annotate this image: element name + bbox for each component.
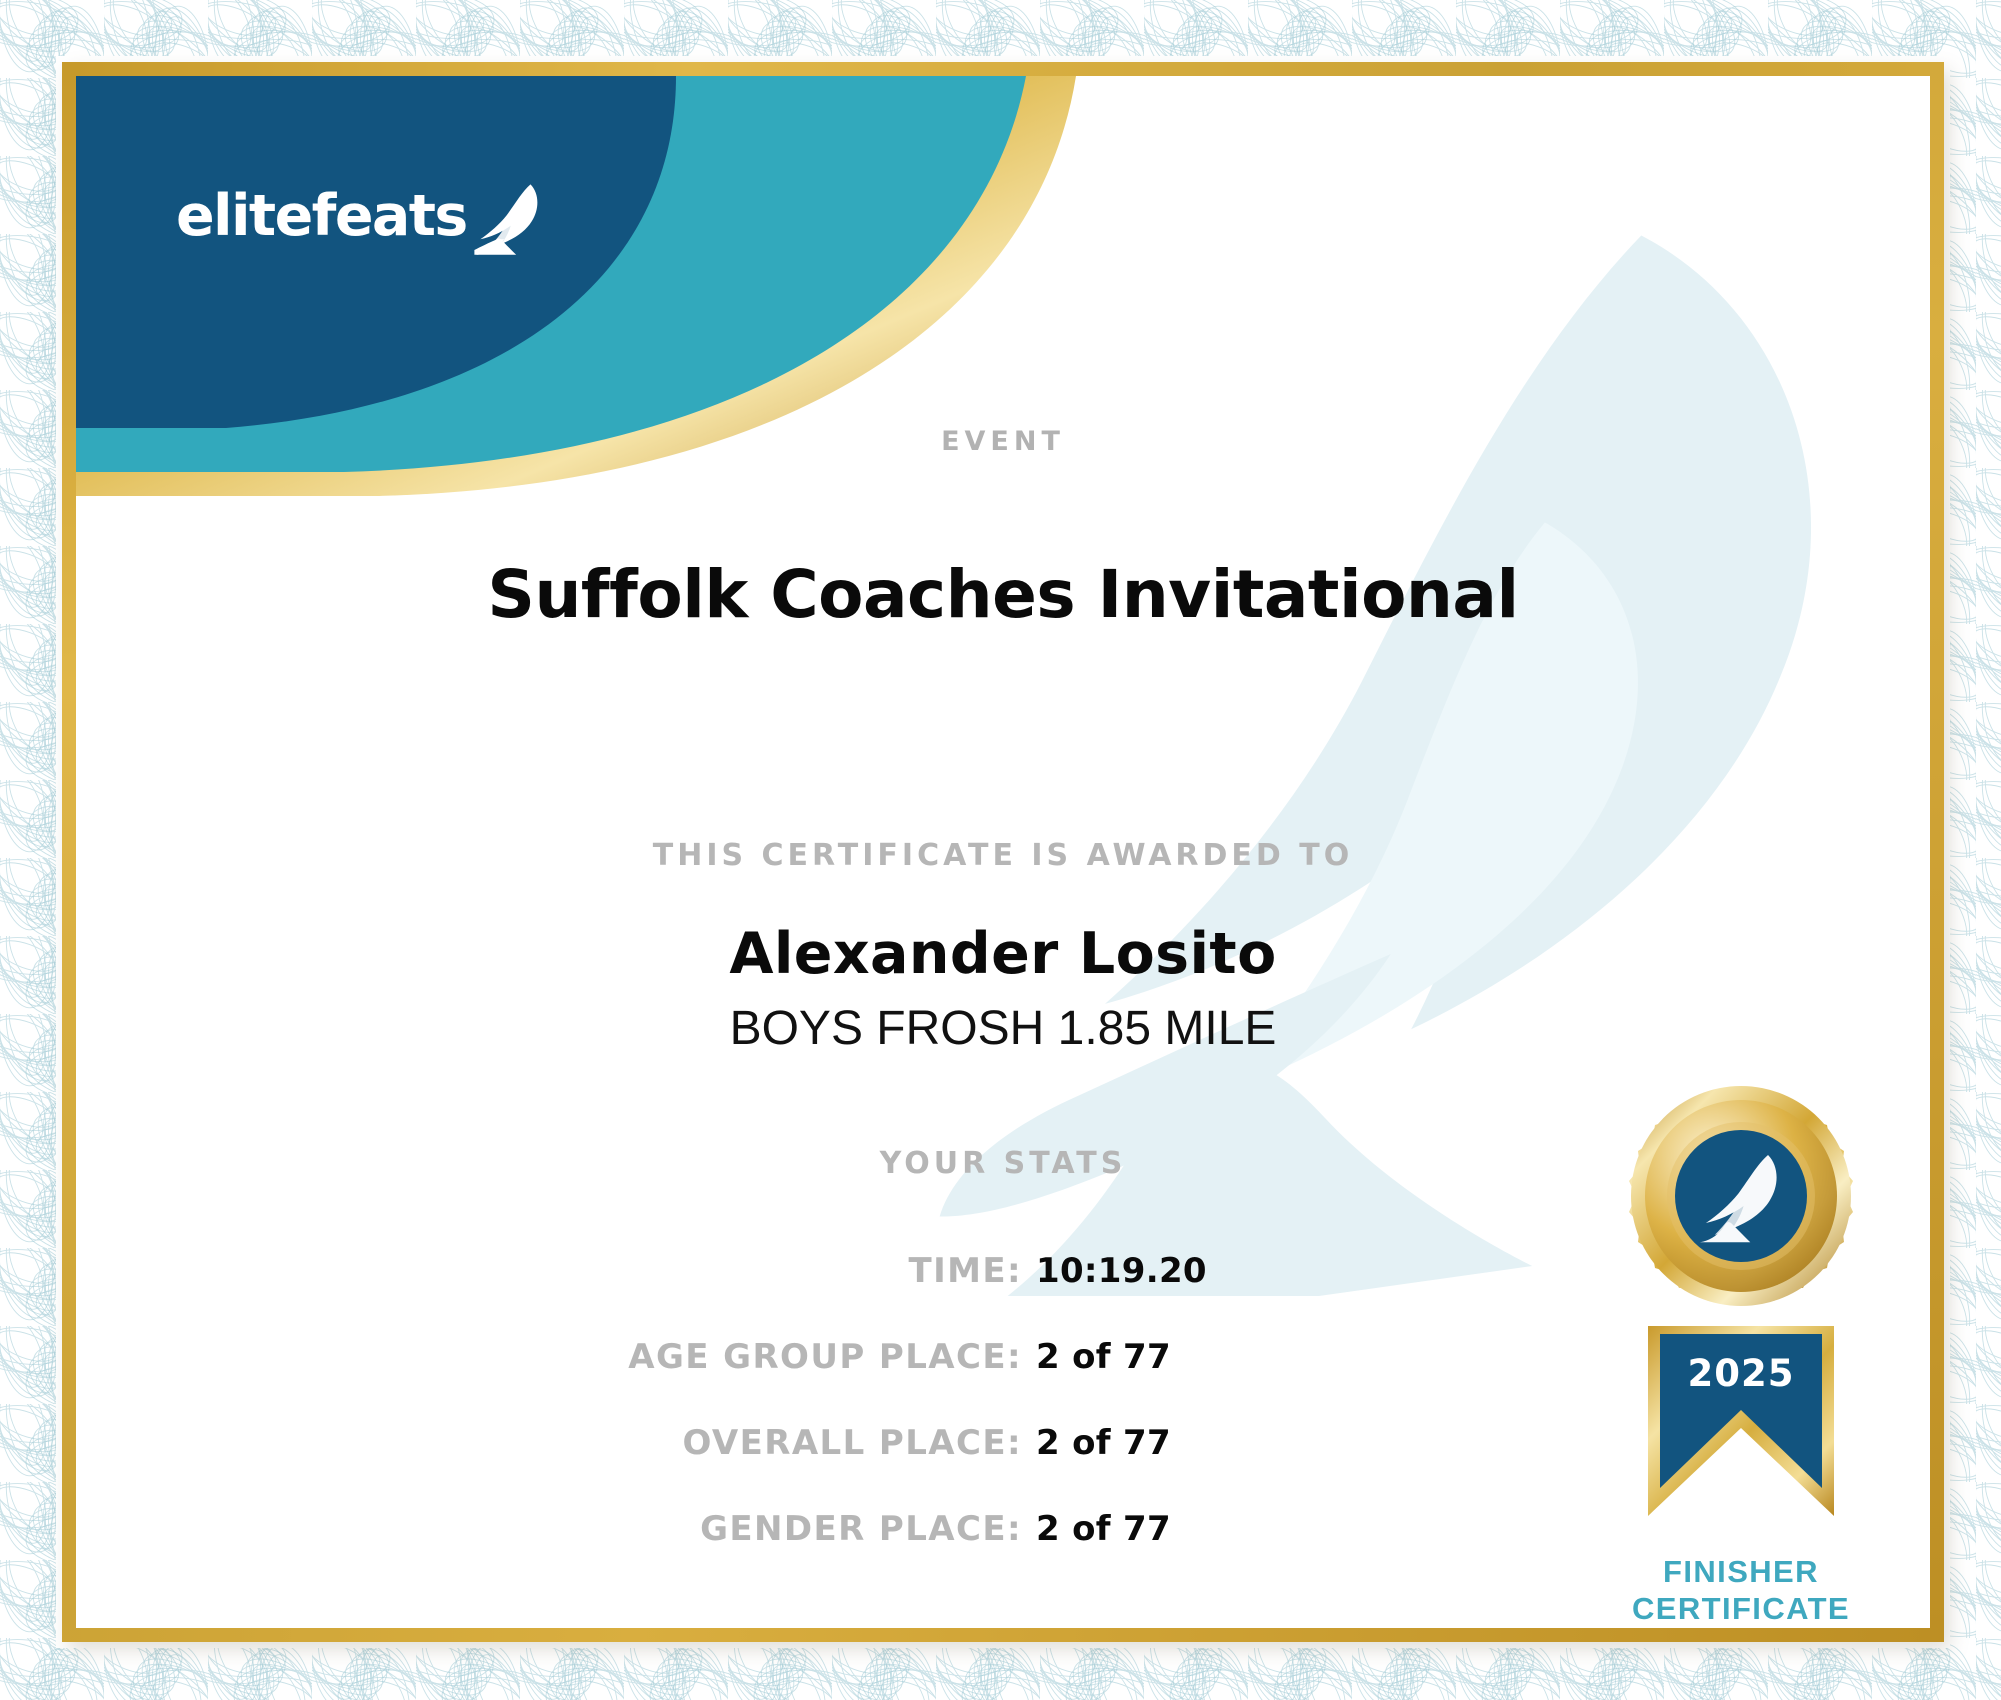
- stat-value-age-group-place: 2 of 77: [1036, 1337, 1216, 1377]
- stat-label-gender-place: GENDER PLACE:: [700, 1509, 1022, 1549]
- stat-value-overall-place: 2 of 77: [1036, 1423, 1216, 1463]
- event-label: EVENT: [76, 426, 1930, 457]
- stat-label-age-group-place: AGE GROUP PLACE:: [628, 1337, 1022, 1377]
- recipient-name: Alexander Losito: [76, 921, 1930, 987]
- certificate-page: elitefeats EVENT Suffolk Coaches Invitat…: [0, 0, 2001, 1700]
- finisher-caption-line2: CERTIFICATE: [1576, 1591, 1906, 1628]
- finisher-medal-seal: 2025: [1576, 1076, 1906, 1628]
- stat-value-gender-place: 2 of 77: [1036, 1509, 1216, 1549]
- stats-table: TIME: 10:19.20 AGE GROUP PLACE: 2 of 77 …: [76, 1251, 1216, 1595]
- finisher-certificate-caption: FINISHER CERTIFICATE: [1576, 1554, 1906, 1627]
- medal-year: 2025: [1688, 1352, 1795, 1395]
- stat-row-overall-place: OVERALL PLACE: 2 of 77: [76, 1423, 1216, 1491]
- awarded-to-label: THIS CERTIFICATE IS AWARDED TO: [76, 838, 1930, 873]
- medal-starburst: [1629, 1086, 1853, 1306]
- stat-row-gender-place: GENDER PLACE: 2 of 77: [76, 1509, 1216, 1577]
- stat-row-time: TIME: 10:19.20: [76, 1251, 1216, 1319]
- certificate-body: elitefeats EVENT Suffolk Coaches Invitat…: [76, 76, 1930, 1628]
- stat-value-time: 10:19.20: [1036, 1251, 1216, 1291]
- division-name: BOYS FROSH 1.85 MILE: [76, 1001, 1930, 1056]
- gold-border-frame: elitefeats EVENT Suffolk Coaches Invitat…: [62, 62, 1944, 1642]
- stat-label-time: TIME:: [909, 1251, 1023, 1291]
- stat-row-age-group-place: AGE GROUP PLACE: 2 of 77: [76, 1337, 1216, 1405]
- finisher-caption-line1: FINISHER: [1576, 1554, 1906, 1591]
- stat-label-overall-place: OVERALL PLACE:: [683, 1423, 1022, 1463]
- event-title: Suffolk Coaches Invitational: [76, 556, 1930, 633]
